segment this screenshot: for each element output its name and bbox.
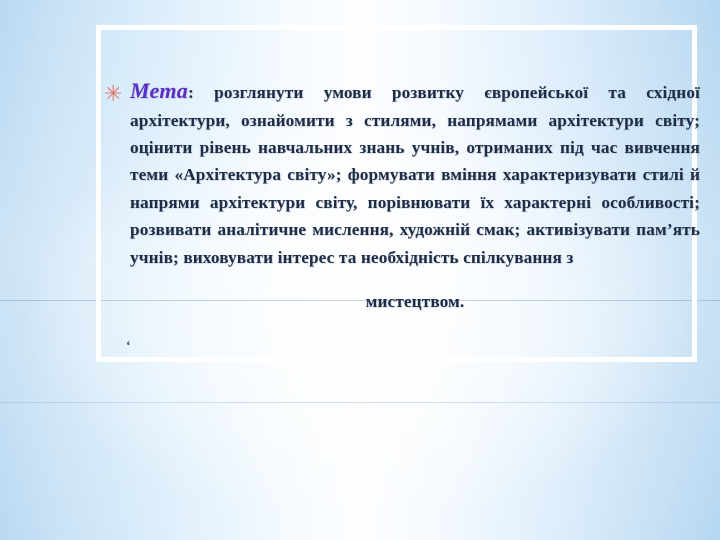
objective-body: : розглянути умови розвитку європейської…	[130, 83, 700, 266]
presentation-slide: ✳ Мета: розглянути умови розвитку європе…	[0, 0, 720, 540]
horizontal-divider-lower	[0, 402, 720, 403]
objective-closing-line: мистецтвом.	[130, 288, 700, 315]
stray-apostrophe-mark: ‘	[126, 340, 131, 354]
objective-text: Мета: розглянути умови розвитку європейс…	[130, 77, 700, 271]
asterisk-bullet-icon: ✳	[104, 86, 120, 102]
slide-body: ✳ Мета: розглянути умови розвитку європе…	[100, 60, 700, 333]
bullet-item: ✳ Мета: розглянути умови розвитку європе…	[100, 77, 700, 315]
objective-keyword: Мета	[130, 78, 188, 103]
